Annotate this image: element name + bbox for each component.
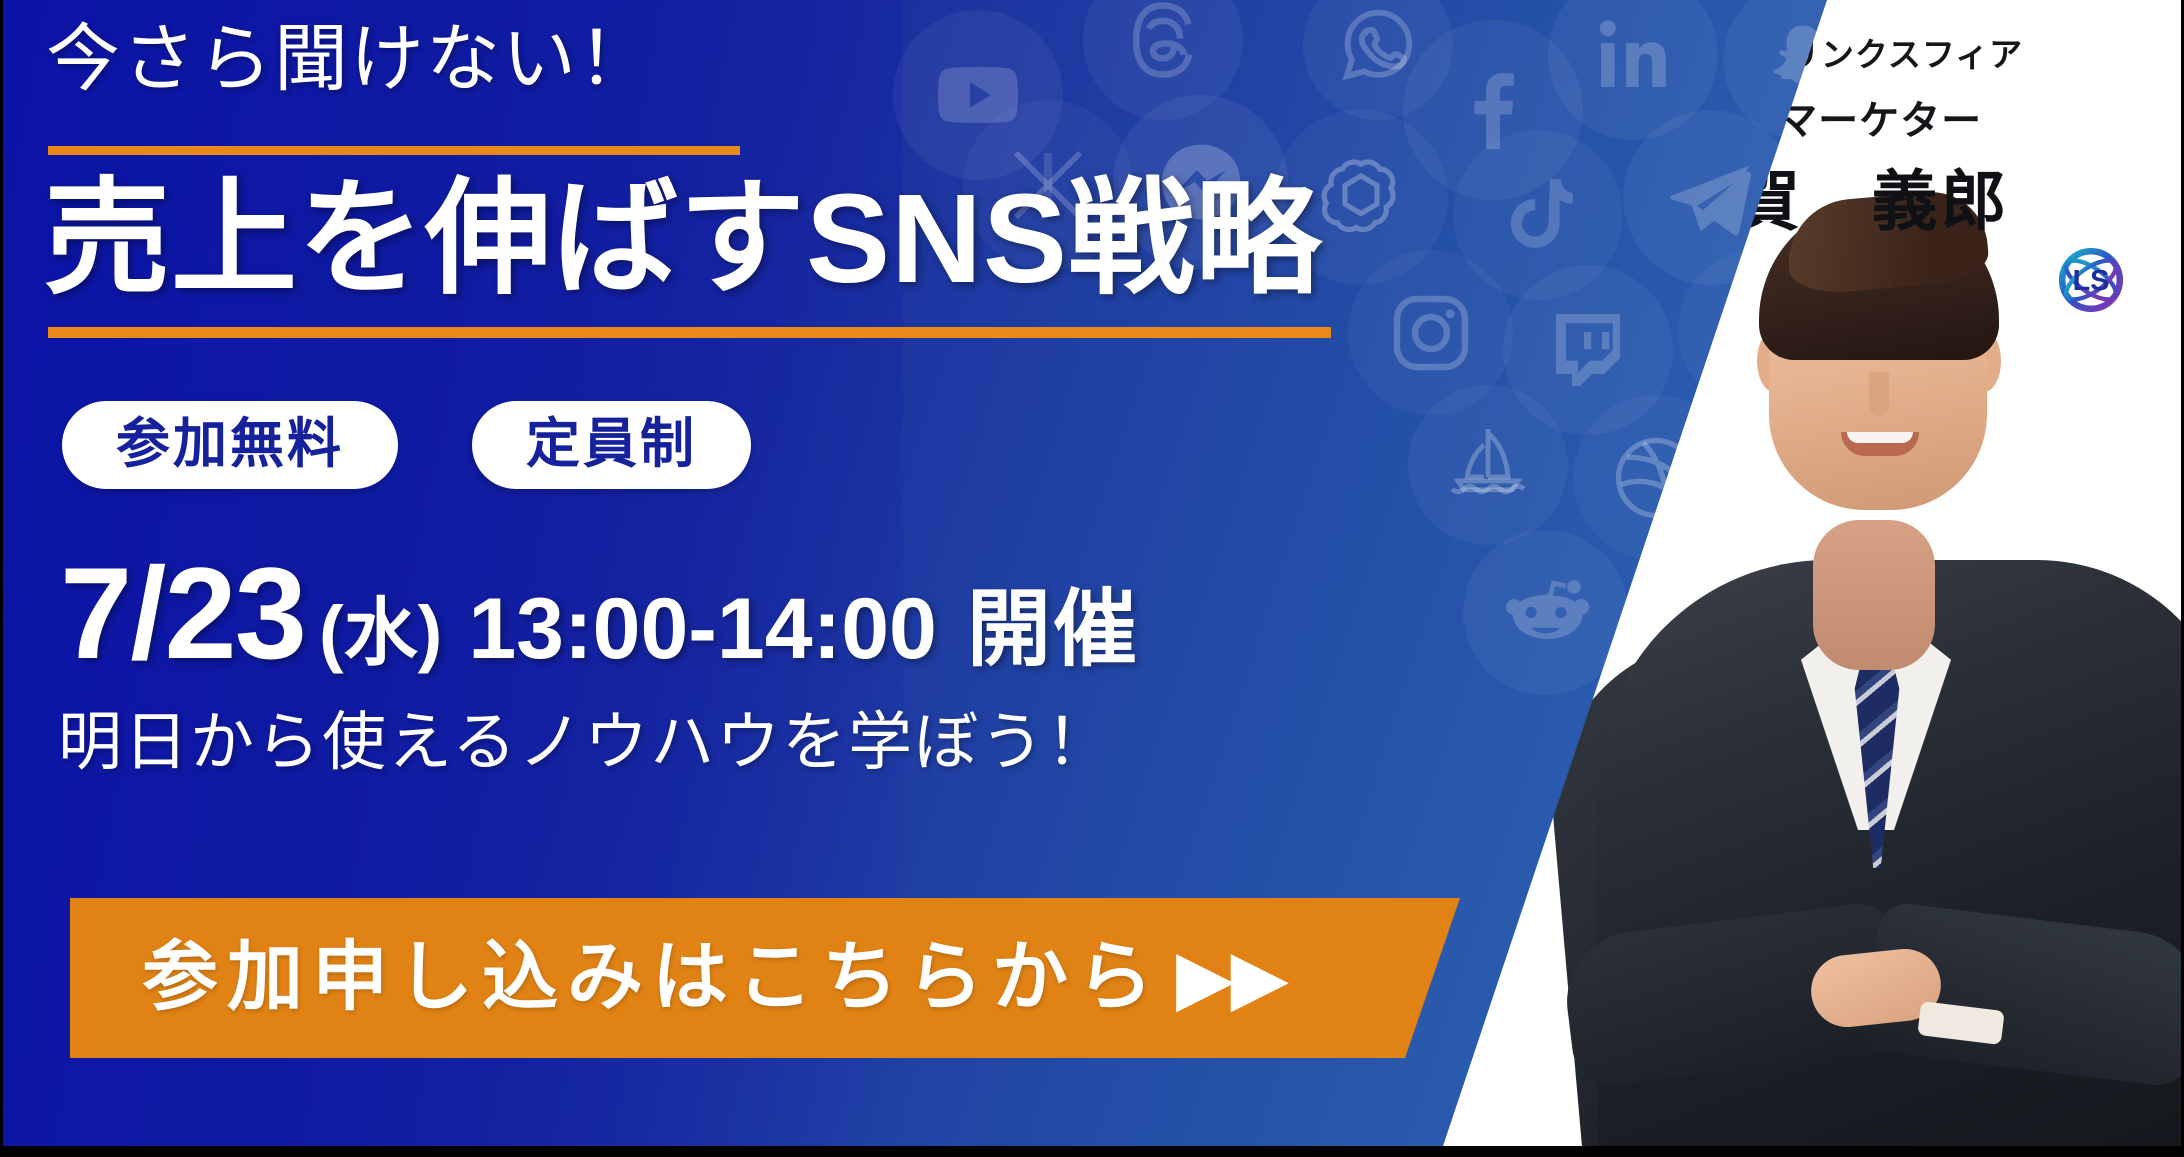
photo-neck xyxy=(1813,520,1935,670)
event-held-label: 開催 xyxy=(967,587,1139,671)
event-datetime: 7/23 (水) 13:00-14:00 開催 xyxy=(60,548,1139,678)
banner-tagline: 明日から使えるノウハウを学ぼう！ xyxy=(58,710,1112,774)
register-cta-button[interactable]: 参加申し込みはこちらから ▶▶ xyxy=(70,898,1460,1058)
webinar-banner: 株式会社リンクスフィア SNSマーケター 古賀 義郎 LS xyxy=(0,0,2184,1157)
badge-free: 参加無料 xyxy=(62,401,398,489)
event-weekday: (水) xyxy=(319,596,442,670)
badge-limited-seats: 定員制 xyxy=(472,401,751,489)
double-arrow-right-icon: ▶▶ xyxy=(1176,940,1285,1016)
event-date: 7/23 xyxy=(60,548,305,678)
event-time: 13:00-14:00 xyxy=(468,586,937,672)
banner-title: 売上を伸ばすSNS戦略 xyxy=(44,176,1322,302)
banner-kicker: 今さら聞けない！ xyxy=(46,22,654,96)
badge-group: 参加無料 定員制 xyxy=(62,401,751,489)
bottom-border xyxy=(0,1146,2184,1157)
photo-teeth xyxy=(1847,432,1913,443)
left-border xyxy=(0,0,3,1157)
kicker-underline xyxy=(48,146,740,155)
svg-text:LS: LS xyxy=(2073,265,2110,297)
cta-label: 参加申し込みはこちらから xyxy=(142,940,1162,1016)
photo-nose xyxy=(1869,372,1889,416)
title-underline xyxy=(48,327,1331,338)
linksphere-logo-icon: LS xyxy=(2055,244,2127,316)
